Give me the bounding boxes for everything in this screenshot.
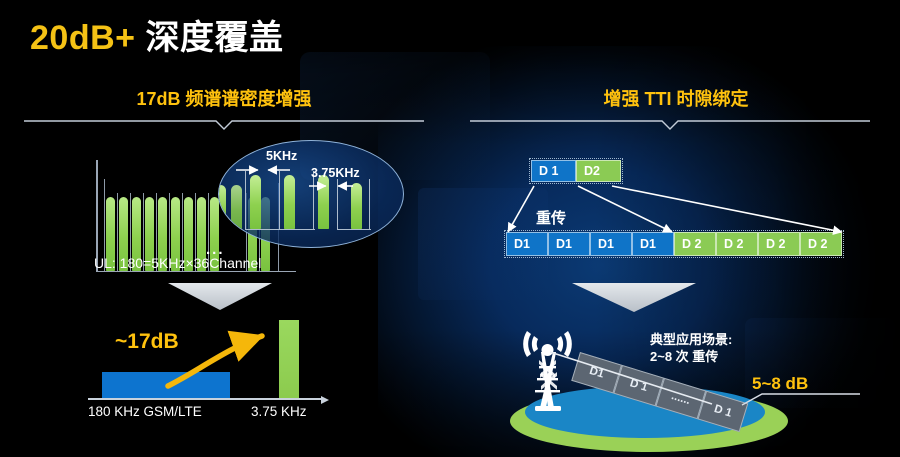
tti-source-cell[interactable]: D 1	[531, 160, 576, 182]
magnifier-tick	[369, 179, 370, 229]
magnifier-narrow-label: 3.75KHz	[311, 166, 360, 180]
scenario-line-2: 2~8 次 重传	[650, 348, 718, 365]
gain-label-17db: ~17dB	[115, 330, 179, 354]
retransmit-label: 重传	[536, 207, 566, 228]
page-title: 20dB+深度覆盖	[30, 10, 284, 59]
bar-label-wide: 180 KHz GSM/LTE	[88, 404, 202, 419]
magnifier-peak-partial	[231, 185, 242, 229]
magnifier-tick	[245, 171, 246, 229]
tti-expanded-cell[interactable]: D1	[632, 232, 674, 256]
bar-label-narrow: 3.75 KHz	[251, 404, 307, 419]
spectrum-caption: UL: 180=5KHz×36Channel	[94, 255, 261, 271]
magnifier-peak	[284, 175, 295, 229]
title-metric: 20dB+	[30, 19, 136, 57]
slide-canvas: 20dB+深度覆盖 17dB 频谱谱密度增强 增强 TTI 时隙绑定 ... U…	[0, 0, 900, 457]
section-heading-right: 增强 TTI 时隙绑定	[452, 85, 900, 111]
scenario-line-1: 典型应用场景:	[650, 331, 732, 348]
magnifier-tick	[337, 179, 338, 229]
tti-expanded-cell[interactable]: D1	[590, 232, 632, 256]
title-text: 深度覆盖	[146, 19, 284, 57]
magnifier-tick	[279, 171, 280, 229]
divider-right	[470, 118, 870, 132]
magnifier-span-label: 5KHz	[266, 149, 297, 163]
bar-narrow-nbiot	[279, 320, 299, 398]
bar-chart-axis	[88, 398, 324, 400]
section-heading-left: 17dB 频谱谱密度增强	[0, 85, 448, 111]
tti-expanded-cell[interactable]: D1	[506, 232, 548, 256]
magnifier-peak	[250, 175, 261, 229]
tti-expanded-cell[interactable]: D1	[548, 232, 590, 256]
magnifier-peak	[318, 175, 329, 229]
tti-expanded-cell[interactable]: D 2	[800, 232, 842, 256]
tti-expanded-cell[interactable]: D 2	[758, 232, 800, 256]
magnifier-ellipse: 5KHz 3.75KHz	[218, 140, 404, 248]
magnifier-peak	[351, 183, 362, 229]
bar-chart-axis-arrow	[321, 396, 329, 404]
divider-left	[24, 118, 424, 132]
gain-label-5-8db: 5~8 dB	[752, 374, 808, 394]
tti-expanded-cell[interactable]: D 2	[674, 232, 716, 256]
tti-expanded-cell[interactable]: D 2	[716, 232, 758, 256]
bar-wide-gsm-lte	[102, 372, 230, 398]
tti-source-cell[interactable]: D2	[576, 160, 621, 182]
magnifier-peak-partial	[218, 185, 226, 229]
